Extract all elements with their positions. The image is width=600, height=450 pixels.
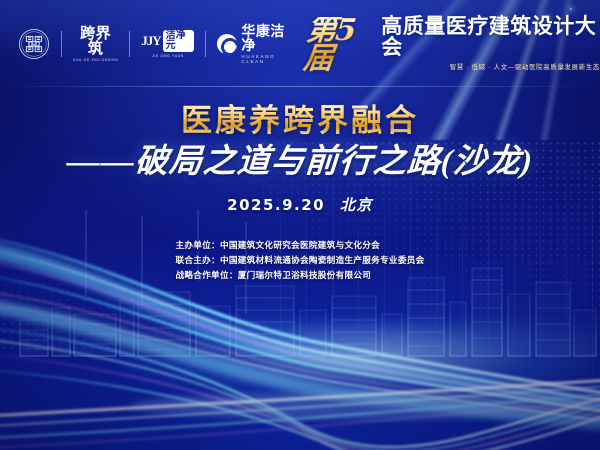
logo-kuajiezhu-text: 跨界筑: [73, 26, 118, 56]
main-subtitle: ——破局之道与前行之路(沙龙): [0, 144, 600, 180]
conference-title: 高质量医疗建筑设计大会: [381, 16, 600, 58]
conference-mark: 第5届 高质量医疗建筑设计大会 智慧 · 低碳 · 人文—驱动医院高质量发展新生…: [305, 16, 600, 73]
logo-jjy-row: JJY 洁净元: [141, 30, 194, 52]
logo-divider: [129, 31, 130, 57]
logo-huakang-text-block: 华康洁净 HUAKANG CLEAN: [241, 24, 295, 64]
organizer-block: 主办单位：中国建筑文化研究会医院建筑与文化分会 联合主办：中国建筑材料流通协会陶…: [175, 239, 424, 283]
poster-main-content: 医康养跨界融合 ——破局之道与前行之路(沙龙) 2025.9.20 北京 主办单…: [0, 88, 600, 284]
logo-divider: [205, 31, 206, 57]
logo-jjy: JJY 洁净元 JIE JING YUAN: [141, 30, 194, 58]
circular-seal-emblem-icon: [18, 28, 50, 60]
logo-huakang-subtext: HUAKANG CLEAN: [241, 54, 295, 64]
logo-divider: [61, 31, 62, 57]
event-date-row: 2025.9.20 北京: [0, 194, 600, 215]
logo-jjy-badge: 洁净元: [163, 30, 195, 52]
sponsor-logo-strip: 跨界筑 KUA JIE ZHU DESIGN JJY 洁净元 JIE JING …: [0, 16, 600, 73]
logo-jjy-subtext: JIE JING YUAN: [152, 54, 184, 58]
organizer-line: 联合主办：中国建筑材料流通协会陶瓷制造生产服务专业委员会: [175, 254, 424, 269]
logo-kuajiezhu: 跨界筑 KUA JIE ZHU DESIGN: [73, 26, 118, 62]
huakang-swirl-icon: [217, 34, 237, 54]
organizer-line: 主办单位：中国建筑文化研究会医院建筑与文化分会: [175, 239, 424, 254]
logo-huakang-text: 华康洁净: [241, 24, 295, 52]
logo-jjy-text: 洁净元: [166, 31, 192, 51]
floor-glow: [0, 322, 600, 392]
logo-jjy-mark: JJY: [141, 33, 160, 49]
conference-title-block: 高质量医疗建筑设计大会 智慧 · 低碳 · 人文—驱动医院高质量发展新生态: [381, 16, 600, 73]
logo-kuajiezhu-subtext: KUA JIE ZHU DESIGN: [73, 58, 118, 62]
poster-header: 跨界筑 KUA JIE ZHU DESIGN JJY 洁净元 JIE JING …: [0, 0, 600, 88]
event-date: 2025.9.20: [227, 196, 325, 214]
logo-huakang: 华康洁净 HUAKANG CLEAN: [217, 24, 295, 64]
main-title: 医康养跨界融合: [0, 104, 600, 138]
conference-poster: 跨界筑 KUA JIE ZHU DESIGN JJY 洁净元 JIE JING …: [0, 0, 600, 450]
organizer-line: 战略合作单位：厦门瑞尔特卫浴科技股份有限公司: [175, 269, 424, 284]
conference-tagline: 智慧 · 低碳 · 人文—驱动医院高质量发展新生态: [381, 62, 600, 71]
conference-edition: 第5届: [302, 17, 380, 72]
event-city: 北京: [340, 198, 373, 214]
